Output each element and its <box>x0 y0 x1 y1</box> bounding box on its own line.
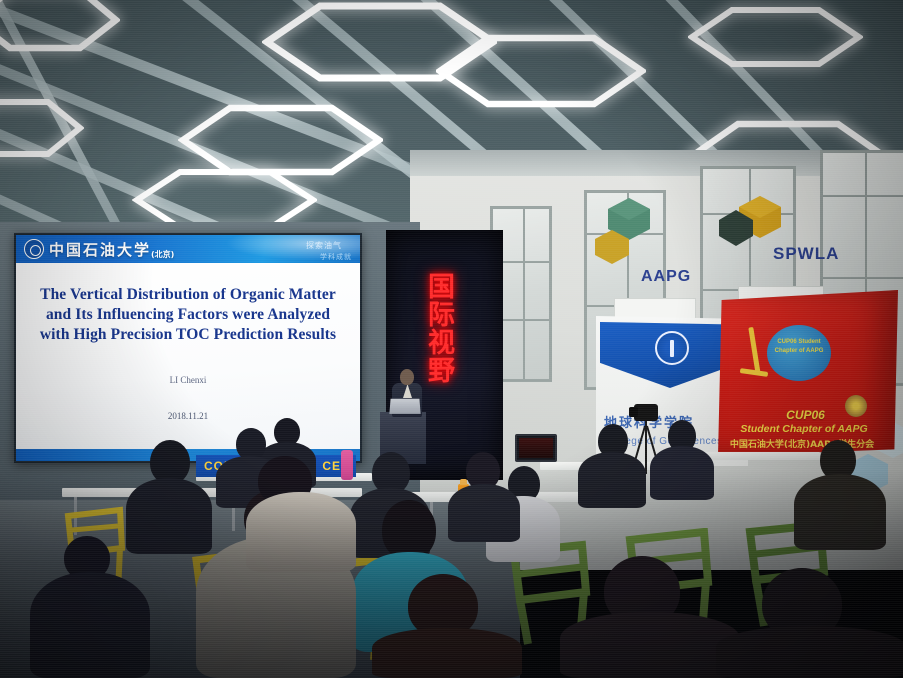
table <box>700 452 820 460</box>
wall-sign-spwla: SPWLA <box>773 244 839 264</box>
slide-header-banner: 中国石油大学(北京) 探索油气 学科成就 <box>16 235 360 263</box>
hexagon-panel-icon <box>716 208 756 248</box>
hexagon-light-icon <box>0 98 84 158</box>
hexagon-panel-icon <box>592 228 632 266</box>
slide-university-name: 中国石油大学(北京) <box>49 239 174 260</box>
presentation-slide: 中国石油大学(北京) 探索油气 学科成就 The Vertical Distri… <box>16 235 360 461</box>
laptop-icon <box>389 399 420 414</box>
monitor-icon <box>515 434 557 462</box>
slide-header-right-text: 探索油气 <box>306 240 342 251</box>
water-bottle-icon <box>341 450 353 480</box>
tripod-icon <box>645 418 647 474</box>
projection-screen: 中国石油大学(北京) 探索油气 学科成就 The Vertical Distri… <box>14 233 362 463</box>
hexagon-light-icon <box>0 0 120 52</box>
slide-header-right-text-2: 学科成就 <box>320 252 352 262</box>
red-flag-line2: Student Chapter of AAPG <box>714 423 894 435</box>
video-camera-icon <box>634 404 658 421</box>
red-flag-line1: CUP06 <box>718 408 893 422</box>
red-flag-line3: 中国石油大学(北京)AAPG学生分会 <box>712 437 892 450</box>
wall-sign-aapg: AAPG <box>641 268 691 286</box>
hexagon-light-icon <box>688 6 863 68</box>
slide-title: The Vertical Distribution of Organic Mat… <box>32 285 344 345</box>
university-name-cn: 中国石油大学 <box>49 241 151 259</box>
slide-date: 2018.11.21 <box>16 411 360 421</box>
university-seal-icon <box>24 239 44 259</box>
lecture-hall-scene: AAPG SPWLA 国际视野 地球科学学院 College of Geosci… <box>0 0 903 678</box>
presenter-head <box>400 369 414 385</box>
university-seal-icon <box>655 331 689 365</box>
led-sign-text: 国际视野 <box>398 272 458 384</box>
hexagon-light-icon <box>178 104 383 176</box>
slide-author: LI Chenxi <box>16 375 360 385</box>
hexagon-light-icon <box>436 34 646 108</box>
red-flag-globe-text: CUP06 Student Chapter of AAPG <box>767 338 831 356</box>
university-campus-cn: (北京) <box>151 250 174 259</box>
